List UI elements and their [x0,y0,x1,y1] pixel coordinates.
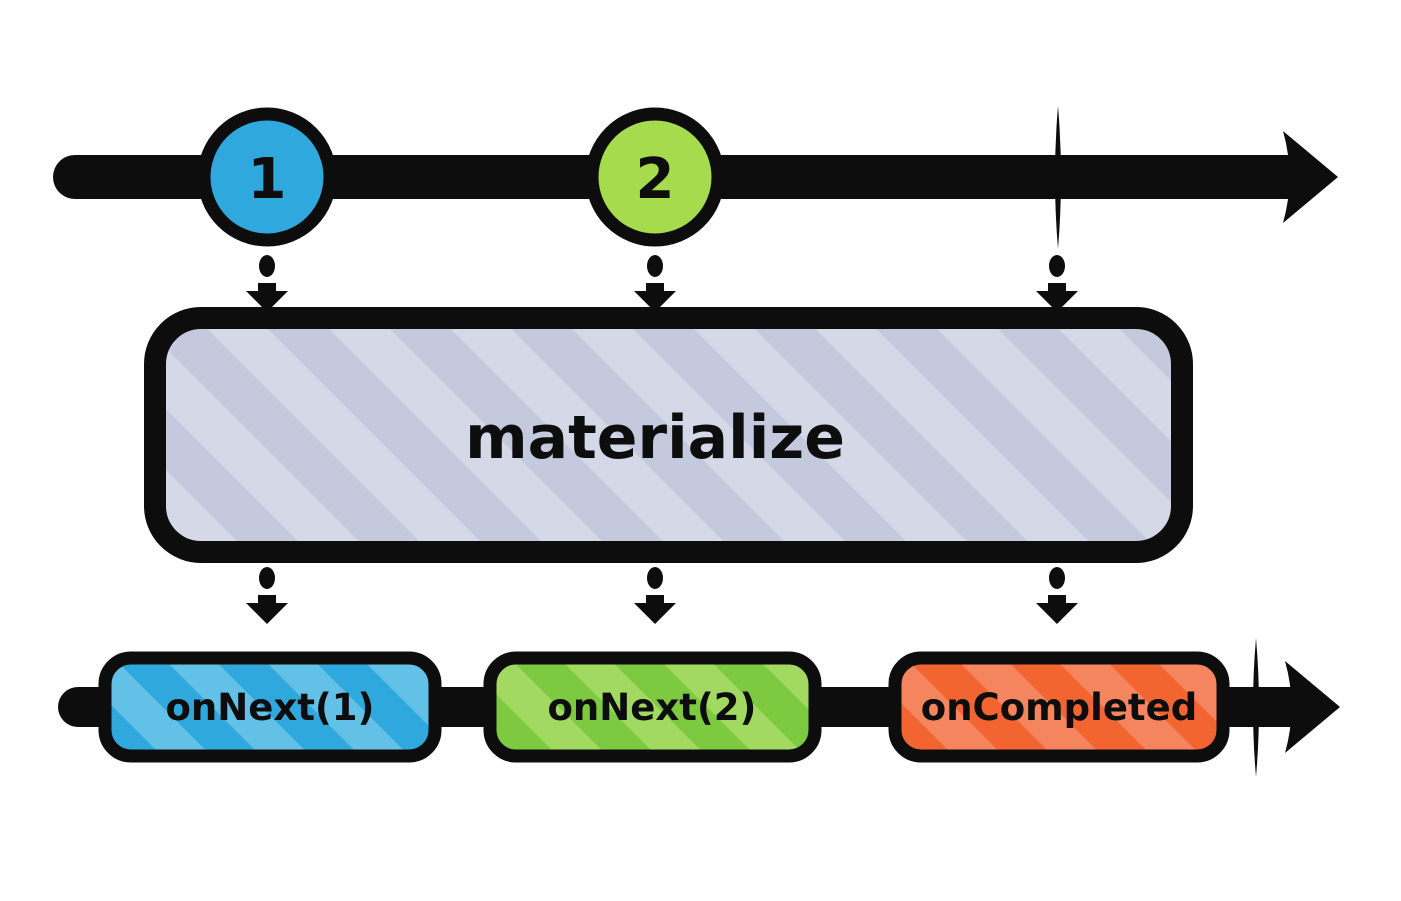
output-arrow-down-2 [634,567,676,624]
output-arrow-down-3 [1036,567,1078,624]
marble-diagram-svg: 1 2 materialize [0,0,1401,901]
source-marble-1[interactable]: 1 [204,114,330,240]
arrow-head [1036,595,1078,624]
operator-box[interactable]: materialize [155,318,1182,552]
operator-box-label: materialize [465,403,845,473]
source-marble-2[interactable]: 2 [592,114,718,240]
emission-arrow-down-2 [634,255,676,312]
arrow-dot [647,255,663,277]
notification-label: onNext(1) [166,686,375,729]
emission-arrow-down-1 [246,255,288,312]
arrow-head [634,595,676,624]
marble-diagram-canvas: 1 2 materialize [0,0,1401,901]
output-arrow-down-1 [246,567,288,624]
notification-label: onCompleted [921,686,1197,729]
output-completion-marker [1253,638,1259,777]
notification-oncompleted[interactable]: onCompleted [895,658,1223,756]
arrow-dot [259,255,275,277]
arrow-dot [647,567,663,589]
arrow-head [246,595,288,624]
notification-label: onNext(2) [548,686,757,729]
notification-onnext-2[interactable]: onNext(2) [490,658,815,756]
source-completion-marker [1055,106,1061,249]
arrow-dot [1049,255,1065,277]
marble-value-label: 1 [248,147,287,212]
output-timeline-arrowhead [1285,661,1340,753]
arrow-dot [1049,567,1065,589]
arrow-dot [259,567,275,589]
source-timeline-arrowhead [1283,131,1338,223]
emission-arrow-down-3 [1036,255,1078,312]
marble-value-label: 2 [636,147,675,212]
notification-onnext-1[interactable]: onNext(1) [105,658,435,756]
